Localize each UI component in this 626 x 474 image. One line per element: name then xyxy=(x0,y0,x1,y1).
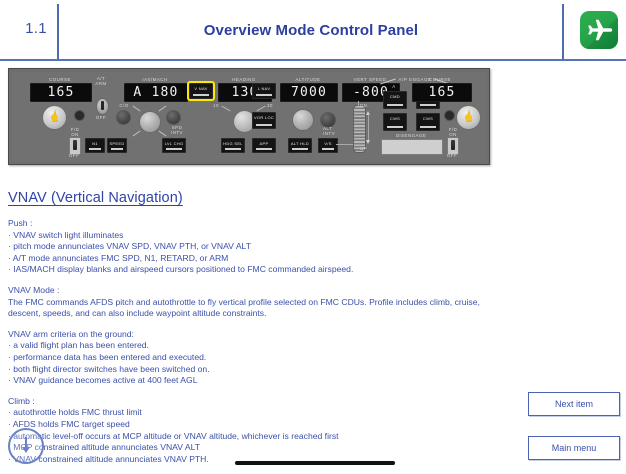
block-heading: VNAV arm criteria on the ground: xyxy=(8,329,528,341)
page-number: 1.1 xyxy=(14,20,58,37)
block-heading: Push : xyxy=(8,218,528,230)
vs-button-bar xyxy=(322,148,334,150)
hdg-tick-left-label: 10 xyxy=(210,103,222,108)
bullet-item: · pitch mode annunciates VNAV SPD, VNAV … xyxy=(8,241,528,253)
n1-button[interactable]: N1 xyxy=(85,138,105,153)
vs-axis-line xyxy=(368,114,369,140)
spd-intv-button[interactable] xyxy=(166,110,181,125)
vs-dn-label: DN xyxy=(360,103,376,108)
bullet-item: · MCP constrained altitude annunciates V… xyxy=(8,442,528,454)
speed-button-bar xyxy=(111,148,123,150)
cmd-b-button-bar xyxy=(420,104,436,106)
cmd-a-button-bar xyxy=(387,104,403,106)
cws-a-button-label: CWS xyxy=(384,117,406,121)
header-rule xyxy=(0,59,626,61)
course-right-knob[interactable] xyxy=(456,105,481,130)
bullet-item: · AFDS holds FMC target speed xyxy=(8,419,528,431)
mode-control-panel-image: COURSE 165 F/D ON OFF A/T ARM OFF N1 xyxy=(8,68,490,165)
section-title: VNAV (Vertical Navigation) xyxy=(8,190,528,206)
block-heading: VNAV Mode : xyxy=(8,285,528,297)
vs-button[interactable]: V/S xyxy=(318,138,338,153)
content-body: VNAV (Vertical Navigation) Push : · VNAV… xyxy=(8,190,528,474)
cws-b-button-bar xyxy=(420,126,436,128)
speed-select-knob[interactable] xyxy=(139,111,161,133)
fd-master-light-left[interactable] xyxy=(74,110,85,121)
text-block-push: Push : · VNAV switch light illuminates ·… xyxy=(8,218,528,276)
altitude-label: ALTITUDE xyxy=(280,77,336,82)
block-heading: Climb : xyxy=(8,396,528,408)
ias-mach-display: A 180 xyxy=(124,83,188,102)
paragraph-line: descent, speeds, and can also include wa… xyxy=(8,308,528,320)
bullet-item: · A/T mode annunciates FMC SPD, N1, RETA… xyxy=(8,253,528,265)
alt-hld-button[interactable]: ALT HLD xyxy=(288,138,312,153)
bullet-item: · IAS/MACH display blanks and airspeed c… xyxy=(8,264,528,276)
app-button-bar xyxy=(256,148,272,150)
hdg-tick-b xyxy=(256,106,265,112)
speed-button[interactable]: SPEED xyxy=(107,138,127,153)
header-divider-left xyxy=(57,4,59,59)
at-arm-label: A/T ARM xyxy=(84,77,118,86)
heading-label: HEADING xyxy=(218,77,270,82)
vnav-button-bar xyxy=(193,94,209,96)
app-button[interactable]: APP xyxy=(252,138,276,153)
ap-a-label: A xyxy=(386,84,402,89)
bullet-item: · performance data has been entered and … xyxy=(8,352,528,364)
co-button[interactable] xyxy=(116,110,131,125)
fd-lever-right xyxy=(451,140,454,150)
home-indicator-bar[interactable] xyxy=(235,461,395,465)
alt-intv-label: ALT INTV xyxy=(323,127,349,136)
vs-up-label: UP xyxy=(360,146,376,151)
bullet-item: · VNAV guidance becomes active at 400 fe… xyxy=(8,375,528,387)
header-divider-right xyxy=(562,4,564,59)
vorloc-button-label: VOR LOC xyxy=(253,116,275,120)
course-right-label: COURSE xyxy=(410,77,470,82)
cws-a-button-bar xyxy=(387,126,403,128)
speed-knob-tick-b xyxy=(159,106,167,112)
disengage-bar[interactable] xyxy=(381,139,443,155)
lvl-chg-button[interactable]: LVL CHG xyxy=(162,138,186,153)
speed-button-label: SPEED xyxy=(108,142,126,146)
lvl-chg-button-label: LVL CHG xyxy=(163,142,185,146)
fd-right-off-label: OFF xyxy=(440,153,464,158)
course-left-label: COURSE xyxy=(30,77,90,82)
at-arm-switch[interactable] xyxy=(96,98,109,115)
vorloc-button-bar xyxy=(256,124,272,126)
airplane-icon[interactable] xyxy=(580,11,618,49)
fd-left-off-label: OFF xyxy=(62,153,86,158)
app-button-label: APP xyxy=(253,142,275,146)
cws-b-button-label: CWS xyxy=(417,117,439,121)
at-off-label: OFF xyxy=(89,115,113,120)
hdg-sel-button[interactable]: HDG SEL xyxy=(221,138,245,153)
vs-button-label: V/S xyxy=(319,142,337,146)
speed-knob-tick-a xyxy=(133,106,141,112)
vs-stem xyxy=(358,101,359,106)
altitude-display: 7000 xyxy=(280,83,338,102)
vs-up-arrow xyxy=(366,140,370,144)
bullet-item: · a valid flight plan has been entered. xyxy=(8,340,528,352)
n1-button-bar xyxy=(89,148,101,150)
hdg-sel-button-bar xyxy=(225,148,241,150)
hdg-tick-right-label: 30 xyxy=(264,103,276,108)
app-page: 1.1 Overview Mode Control Panel COURSE 1… xyxy=(0,0,626,469)
text-block-arm-criteria: VNAV arm criteria on the ground: · a val… xyxy=(8,329,528,387)
lvl-chg-button-bar xyxy=(166,148,182,150)
lnav-button[interactable]: L NAV xyxy=(252,83,276,99)
lnav-button-bar xyxy=(256,94,272,96)
main-menu-button[interactable]: Main menu xyxy=(528,436,620,460)
alt-hld-button-bar xyxy=(292,148,308,150)
vorloc-button[interactable]: VOR LOC xyxy=(252,112,276,129)
n1-button-label: N1 xyxy=(86,142,104,146)
bullet-item: · automatic level-off occurs at MCP alti… xyxy=(8,431,528,443)
next-item-button[interactable]: Next item xyxy=(528,392,620,416)
hdg-sel-button-label: HDG SEL xyxy=(222,142,244,146)
fd-lever-left xyxy=(73,140,76,150)
vnav-button-label: V NAV xyxy=(190,87,212,91)
lnav-button-label: L NAV xyxy=(253,87,275,91)
course-left-knob[interactable] xyxy=(42,105,67,130)
alt-hld-button-label: ALT HLD xyxy=(289,142,311,146)
fd-master-light-right[interactable] xyxy=(444,110,455,121)
text-block-climb: Climb : · autothrottle holds FMC thrust … xyxy=(8,396,528,466)
hdg-tick-a xyxy=(221,106,230,112)
cmd-a-button-label: CMD xyxy=(384,95,406,99)
course-right-display: 165 xyxy=(412,83,472,102)
mcp-face: COURSE 165 F/D ON OFF A/T ARM OFF N1 xyxy=(12,72,486,161)
course-right-hub xyxy=(465,114,472,121)
bullet-item: · autothrottle holds FMC thrust limit xyxy=(8,407,528,419)
speed-knob-tick-c xyxy=(133,131,141,137)
course-left-display: 165 xyxy=(30,83,92,102)
vs-connector-line xyxy=(336,144,354,145)
co-label: C/O xyxy=(116,103,132,108)
at-arm-lever xyxy=(101,101,104,110)
course-left-hub xyxy=(51,114,58,121)
page-title: Overview Mode Control Panel xyxy=(62,22,560,39)
bullet-item: · both flight director switches have bee… xyxy=(8,364,528,376)
cursor-arrow-head xyxy=(22,447,30,453)
altitude-select-knob[interactable] xyxy=(292,109,314,131)
ias-mach-label: IAS/MACH xyxy=(124,77,186,82)
bullet-item: · VNAV switch light illuminates xyxy=(8,230,528,242)
text-block-vnav-mode: VNAV Mode : The FMC commands AFDS pitch … xyxy=(8,285,528,320)
paragraph-line: The FMC commands AFDS pitch and autothro… xyxy=(8,297,528,309)
scroll-down-cursor xyxy=(8,428,44,464)
cmd-a-button[interactable]: CMD xyxy=(383,91,407,109)
cws-a-button[interactable]: CWS xyxy=(383,113,407,131)
fd-left-label: F/D ON xyxy=(58,128,92,137)
page-header: 1.1 Overview Mode Control Panel xyxy=(0,0,626,62)
spd-intv-label: SPD INTV xyxy=(164,126,190,135)
vnav-button[interactable]: V NAV xyxy=(189,83,213,99)
disengage-label: DISENGAGE xyxy=(380,133,442,138)
